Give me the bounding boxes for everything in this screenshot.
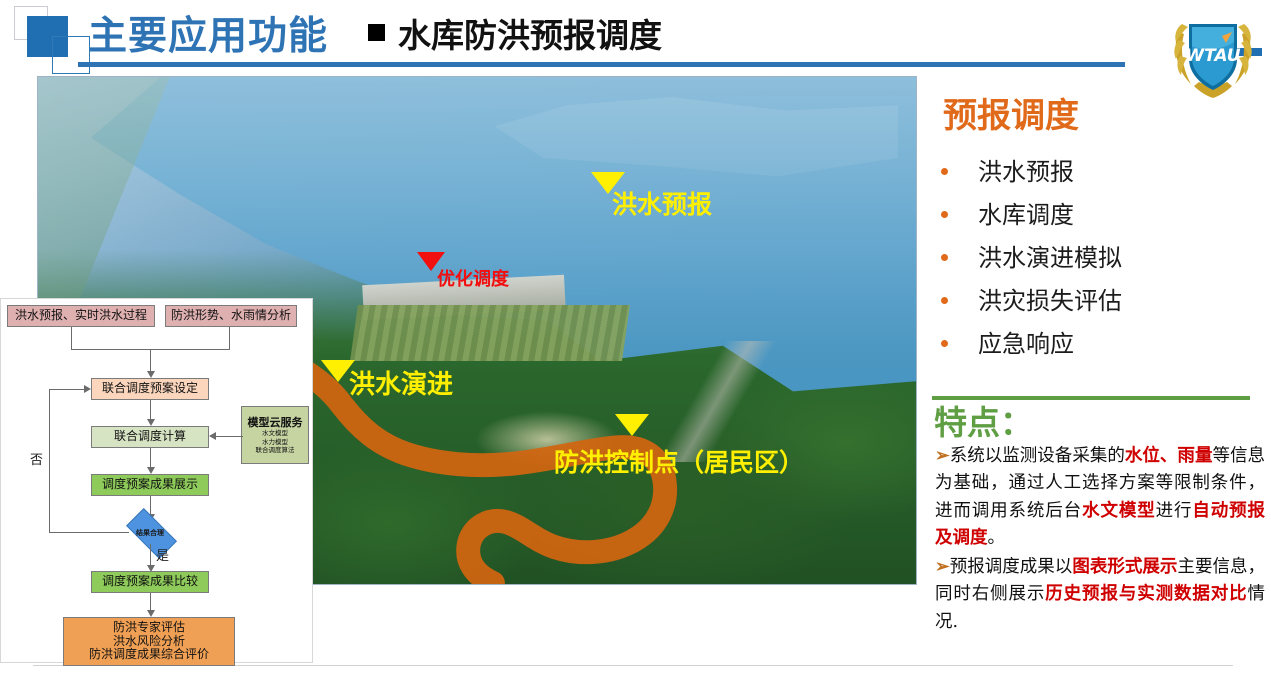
marker-flood-forecast-label: 洪水预报 [612,185,712,221]
bullet-label-flood-routing-sim: 洪水演进模拟 [978,238,1122,273]
flow-arrow-to-calc [147,419,155,426]
flow-node-model-cloud-sub3: 联合调度算法 [256,446,295,455]
flow-edge-cloud-calc [213,436,243,437]
flow-node-input-right: 防洪形势、水雨情分析 [165,305,297,327]
arrow-bullet-icon: ➢ [935,557,950,577]
dispatch-flowchart: 洪水预报、实时洪水过程 防洪形势、水雨情分析 联合调度预案设定 联合调度计算 模… [0,298,313,663]
flow-arrow-to-show [147,467,155,474]
flow-node-evaluation: 防洪专家评估 洪水风险分析 防洪调度成果综合评价 [63,617,235,666]
bullet-dot-icon [941,211,948,218]
slide-root: 主要应用功能 水库防洪预报调度 WTAU [0,0,1271,673]
flow-node-plan-compare: 调度预案成果比较 [91,571,209,593]
bullet-dot-icon [941,254,948,261]
bullet-label-emergency-response: 应急响应 [978,324,1074,359]
p1-hl1: 水位、雨量 [1125,446,1213,466]
flow-node-model-cloud: 模型云服务 水文模型 水力模型 联合调度算法 [241,406,309,464]
p1-seg4: 。 [988,528,1006,548]
flow-node-model-cloud-sub1: 水文模型 [262,429,288,438]
flow-arrow-to-plan [147,371,155,378]
p2-seg1: 预报调度成果以 [950,557,1073,577]
p1-seg1: 系统以监测设备采集的 [950,446,1125,466]
flow-node-evaluation-line1: 防洪专家评估 [113,621,185,634]
bullet-dot-icon [941,297,948,304]
square-bullet-icon [368,24,385,41]
p1-hl2: 水文模型 [1082,501,1156,521]
flow-node-joint-calc: 联合调度计算 [91,426,209,448]
flow-arrow-cloud-to-calc [209,432,216,440]
bullet-label-reservoir-dispatch: 水库调度 [978,195,1074,230]
bullet-dot-icon [941,168,948,175]
p1-seg3: 进行 [1156,501,1193,521]
flow-edge-no-v [49,389,50,532]
flow-edge-in-right-v [229,327,230,349]
p2-hl1: 图表形式展示 [1072,557,1177,577]
bullet-label-loss-assessment: 洪灾损失评估 [978,281,1122,316]
marker-optimal-dispatch-label: 优化调度 [437,265,509,291]
flow-arrow-no-to-plan [84,385,91,393]
flow-edge-label-no: 否 [30,449,43,468]
flow-edge-in-left-v [71,327,72,349]
p2-hl2: 历史预报与实测数据对比 [1045,584,1247,604]
svg-text:WTAU: WTAU [1185,46,1240,66]
marker-control-point-icon [615,414,649,436]
section-title-forecast-dispatch: 预报调度 [943,88,1079,137]
flow-node-plan-setting: 联合调度预案设定 [91,378,209,400]
list-item[interactable]: 洪灾损失评估 [936,281,1266,324]
list-item[interactable]: 水库调度 [936,195,1266,238]
header-divider [78,62,1125,67]
list-item[interactable]: 洪水演进模拟 [936,238,1266,281]
bullet-label-flood-forecast: 洪水预报 [978,152,1074,187]
flow-edge-label-yes: 是 [156,545,169,564]
flow-arrow-to-eval [147,610,155,617]
bullet-dot-icon [941,340,948,347]
flow-node-decision-label: 结果合理 [105,528,195,538]
flow-node-evaluation-line3: 防洪调度成果综合评价 [89,648,209,661]
flow-node-input-left: 洪水预报、实时洪水过程 [7,305,155,327]
flow-edge-no-h-bottom [49,532,129,533]
feature-bullet-list: 洪水预报 水库调度 洪水演进模拟 洪灾损失评估 应急响应 [936,152,1266,367]
features-paragraph-1: ➢系统以监测设备采集的水位、雨量等信息为基础，通过人工选择方案等限制条件，进而调… [935,443,1265,552]
flow-node-model-cloud-title: 模型云服务 [248,417,303,429]
features-paragraph-2: ➢预报调度成果以图表形式展示主要信息，同时右侧展示历史预报与实测数据对比情况. [935,554,1265,636]
flow-node-result-display: 调度预案成果展示 [91,474,209,496]
features-title: 特点： [934,396,1033,444]
page-title: 主要应用功能 [88,5,328,61]
wtau-logo: WTAU [1164,2,1262,102]
features-paragraphs: ➢系统以监测设备采集的水位、雨量等信息为基础，通过人工选择方案等限制条件，进而调… [935,443,1265,638]
flow-edge-no-h-top [49,389,85,390]
decor-square-outline [52,36,90,74]
marker-control-point-label: 防洪控制点（居民区） [554,443,804,479]
marker-flood-routing-label: 洪水演进 [349,364,453,401]
list-item[interactable]: 洪水预报 [936,152,1266,195]
list-item[interactable]: 应急响应 [936,324,1266,367]
page-subtitle: 水库防洪预报调度 [398,9,662,57]
arrow-bullet-icon: ➢ [935,446,950,466]
